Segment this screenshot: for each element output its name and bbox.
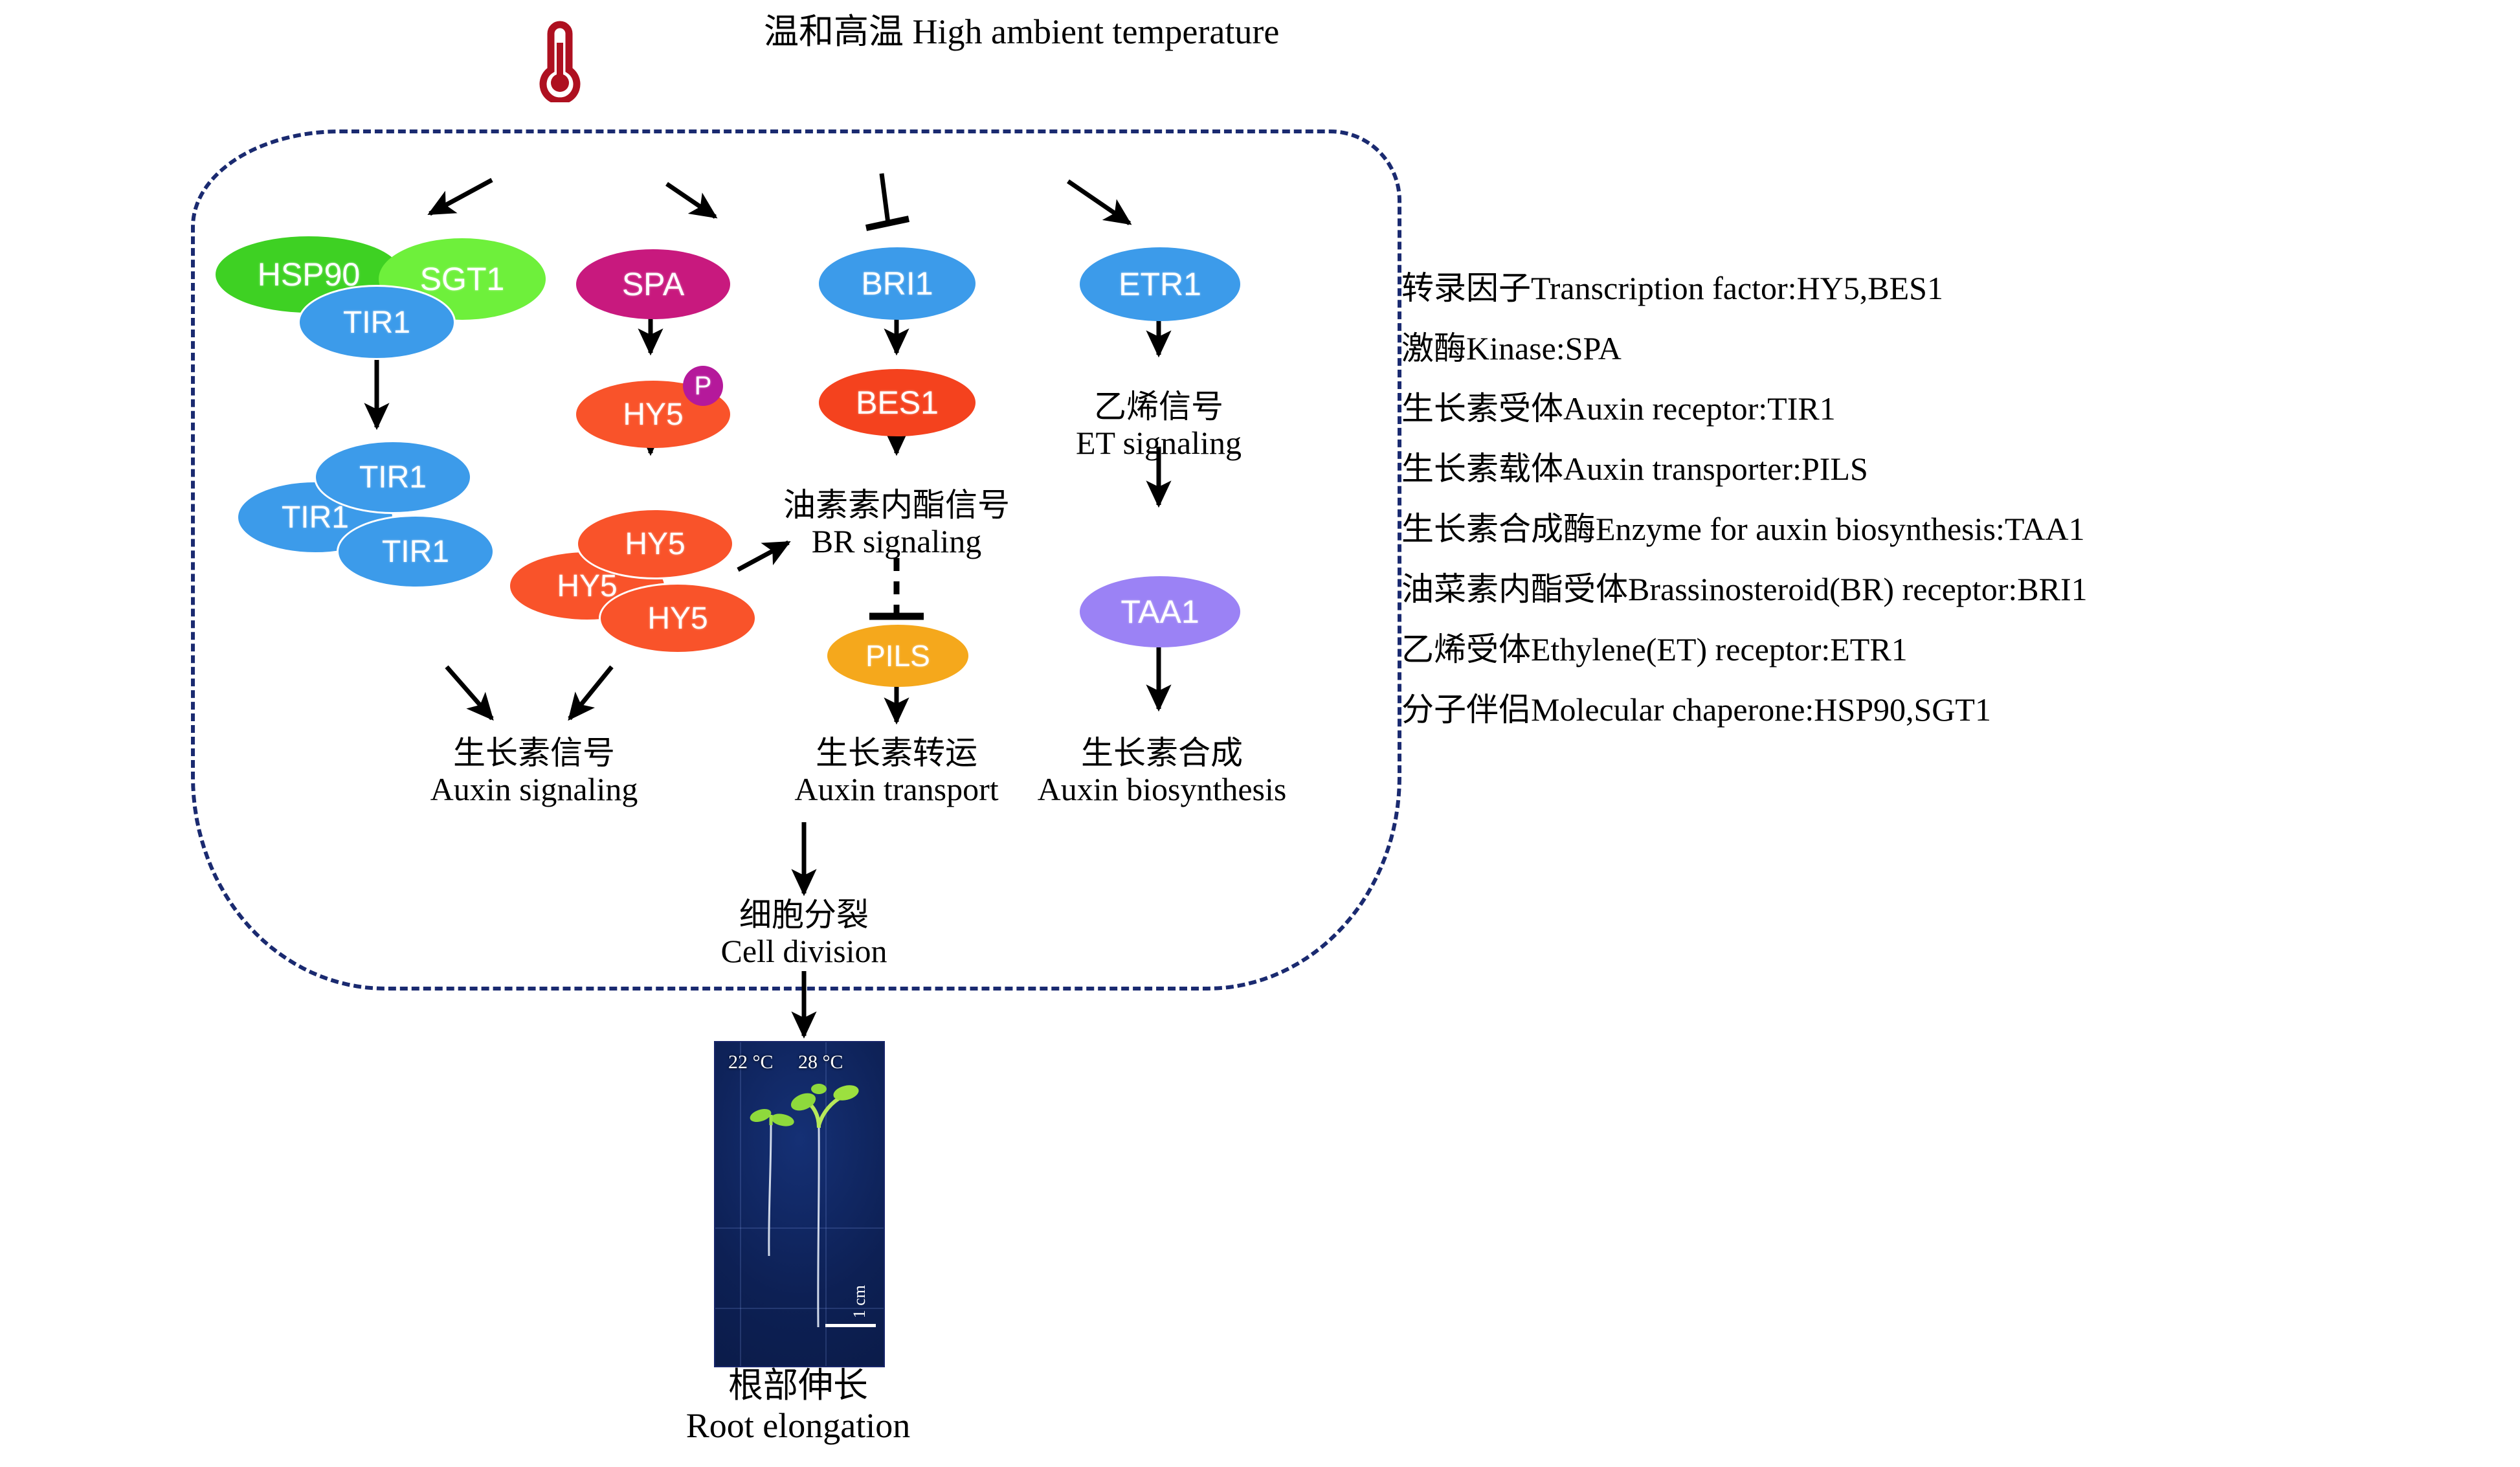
legend-item-auxin-enzyme: 生长素合成酶Enzyme for auxin biosynthesis:TAA1 bbox=[1401, 513, 2502, 545]
node-hy5-b-label: HY5 bbox=[557, 568, 617, 604]
label-root-elongation-en: Root elongation bbox=[686, 1406, 910, 1446]
label-root-elongation-cn: 根部伸长 bbox=[686, 1366, 910, 1406]
label-cell-division: 细胞分裂 Cell division bbox=[721, 897, 887, 969]
node-hy5-phospho-label: HY5 bbox=[623, 397, 683, 432]
label-root-elongation: 根部伸长 Root elongation bbox=[686, 1366, 910, 1446]
node-pils-label: PILS bbox=[865, 638, 930, 673]
label-auxin-transport-en: Auxin transport bbox=[794, 771, 998, 807]
node-hy5-c-label: HY5 bbox=[647, 601, 708, 636]
scale-bar bbox=[825, 1324, 876, 1327]
label-auxin-biosynthesis-en: Auxin biosynthesis bbox=[1038, 771, 1287, 807]
legend-item-kinase: 激酶Kinase:SPA bbox=[1401, 332, 2502, 364]
label-auxin-signaling: 生长素信号 Auxin signaling bbox=[430, 735, 638, 807]
node-tir1-top[interactable]: TIR1 bbox=[298, 285, 456, 360]
label-auxin-transport-cn: 生长素转运 bbox=[794, 735, 998, 771]
node-tir1-top-label: TIR1 bbox=[343, 305, 410, 341]
node-etr1[interactable]: ETR1 bbox=[1080, 247, 1240, 321]
root-elongation-photo: 22 °C 28 °C 1 cm bbox=[714, 1041, 885, 1367]
label-et-signaling-cn: 乙烯信号 bbox=[1076, 388, 1242, 425]
node-spa-label: SPA bbox=[622, 265, 684, 303]
label-auxin-transport: 生长素转运 Auxin transport bbox=[794, 735, 998, 807]
node-tir1-a[interactable]: TIR1 bbox=[314, 440, 472, 514]
node-tir1-a-label: TIR1 bbox=[359, 460, 427, 495]
node-hy5-c[interactable]: HY5 bbox=[599, 583, 757, 654]
label-auxin-signaling-cn: 生长素信号 bbox=[430, 735, 638, 771]
label-auxin-biosynthesis: 生长素合成 Auxin biosynthesis bbox=[1038, 735, 1287, 807]
diagram-title: 温和高温 High ambient temperature bbox=[764, 12, 1279, 53]
node-sgt1-label: SGT1 bbox=[420, 260, 505, 298]
label-auxin-signaling-en: Auxin signaling bbox=[430, 771, 638, 807]
label-cell-division-cn: 细胞分裂 bbox=[721, 897, 887, 933]
node-tir1-c-label: TIR1 bbox=[382, 534, 449, 570]
node-hy5-a-label: HY5 bbox=[625, 526, 685, 562]
node-bri1-label: BRI1 bbox=[861, 265, 933, 302]
node-pils[interactable]: PILS bbox=[827, 625, 968, 687]
label-br-signaling: 油素素内酯信号 BR signaling bbox=[783, 487, 1010, 559]
scale-bar-label: 1 cm bbox=[850, 1285, 869, 1318]
node-bri1[interactable]: BRI1 bbox=[819, 247, 976, 320]
node-tir1-c[interactable]: TIR1 bbox=[337, 515, 495, 588]
thermometer-icon bbox=[531, 18, 589, 102]
legend-item-chaperone: 分子伴侣Molecular chaperone:HSP90,SGT1 bbox=[1401, 693, 2502, 726]
title-cn: 温和高温 bbox=[764, 12, 904, 51]
title-en: High ambient temperature bbox=[913, 12, 1280, 51]
phosphorylation-badge[interactable]: P bbox=[683, 366, 723, 406]
label-auxin-biosynthesis-cn: 生长素合成 bbox=[1038, 735, 1287, 771]
node-etr1-label: ETR1 bbox=[1119, 265, 1201, 303]
node-bes1[interactable]: BES1 bbox=[819, 369, 976, 436]
node-bes1-label: BES1 bbox=[856, 384, 939, 421]
node-taa1-label: TAA1 bbox=[1121, 593, 1199, 631]
label-cell-division-en: Cell division bbox=[721, 933, 887, 969]
legend-item-auxin-transporter: 生长素载体Auxin transporter:PILS bbox=[1401, 453, 2502, 485]
legend-item-br-receptor: 油菜素内酯受体Brassinosteroid(BR) receptor:BRI1 bbox=[1401, 573, 2502, 605]
legend-item-et-receptor: 乙烯受体Ethylene(ET) receptor:ETR1 bbox=[1401, 633, 2502, 666]
label-br-signaling-cn: 油素素内酯信号 bbox=[783, 487, 1010, 523]
phosphorylation-label: P bbox=[695, 372, 712, 401]
legend-item-auxin-receptor: 生长素受体Auxin receptor:TIR1 bbox=[1401, 392, 2502, 425]
node-hy5-a[interactable]: HY5 bbox=[576, 508, 734, 579]
photo-label-22c: 22 °C bbox=[728, 1051, 774, 1073]
label-et-signaling: 乙烯信号 ET signaling bbox=[1076, 388, 1242, 461]
legend: 转录因子Transcription factor:HY5,BES1 激酶Kina… bbox=[1401, 272, 2502, 754]
label-br-signaling-en: BR signaling bbox=[783, 523, 1010, 559]
node-taa1[interactable]: TAA1 bbox=[1080, 576, 1240, 647]
node-tir1-b-label: TIR1 bbox=[282, 500, 349, 535]
legend-item-transcription-factor: 转录因子Transcription factor:HY5,BES1 bbox=[1401, 272, 2502, 304]
label-et-signaling-en: ET signaling bbox=[1076, 425, 1242, 461]
photo-label-28c: 28 °C bbox=[798, 1051, 843, 1073]
node-spa[interactable]: SPA bbox=[576, 249, 730, 319]
